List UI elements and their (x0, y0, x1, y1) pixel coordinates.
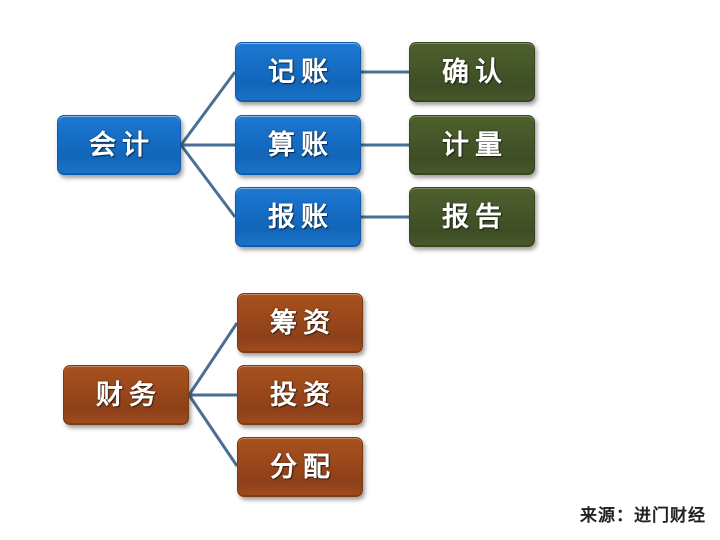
node-label: 报账 (262, 204, 334, 231)
connector-accounting-to-jizhang (181, 72, 235, 145)
connector-finance-to-chouzi (189, 323, 237, 395)
node-baozhang[interactable]: 报账 (235, 187, 361, 247)
diagram-canvas: 会计 记账 算账 报账 确认 计量 报告 财务 筹资 投资 分配 来源：进门财经 (0, 0, 720, 540)
node-fenpei[interactable]: 分配 (237, 437, 363, 497)
node-label: 计量 (436, 132, 508, 159)
node-label: 财务 (90, 382, 162, 409)
node-accounting-root[interactable]: 会计 (57, 115, 181, 175)
node-jizhang[interactable]: 记账 (235, 42, 361, 102)
node-queren[interactable]: 确认 (409, 42, 535, 102)
node-jiliang[interactable]: 计量 (409, 115, 535, 175)
node-label: 筹资 (264, 310, 336, 337)
connector-accounting-to-baozhang (181, 145, 235, 217)
node-label: 报告 (436, 204, 508, 231)
node-label: 分配 (264, 454, 336, 481)
node-chouzi[interactable]: 筹资 (237, 293, 363, 353)
node-label: 会计 (83, 132, 155, 159)
node-label: 算账 (262, 132, 334, 159)
source-attribution: 来源：进门财经 (580, 501, 706, 526)
node-label: 确认 (436, 59, 508, 86)
node-baogao[interactable]: 报告 (409, 187, 535, 247)
node-suanzhang[interactable]: 算账 (235, 115, 361, 175)
connector-finance-to-fenpei (189, 395, 237, 466)
node-label: 投资 (264, 382, 336, 409)
node-label: 记账 (262, 59, 334, 86)
node-finance-root[interactable]: 财务 (63, 365, 189, 425)
node-touzi[interactable]: 投资 (237, 365, 363, 425)
